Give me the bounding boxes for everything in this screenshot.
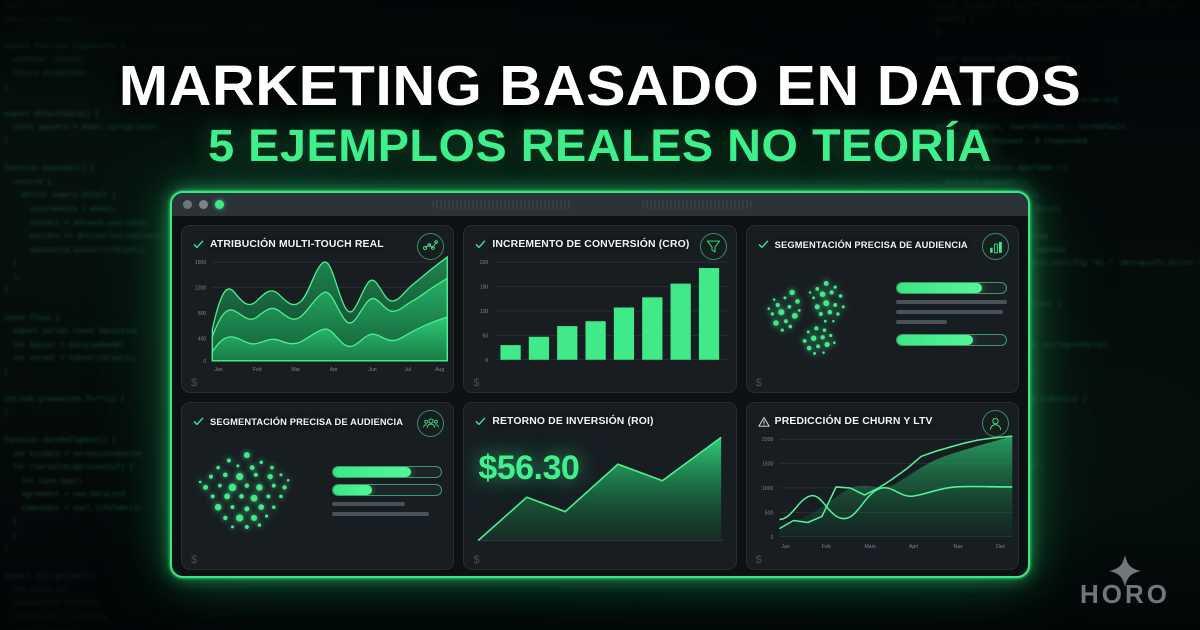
svg-text:Mar: Mar <box>291 367 300 373</box>
poster-canvas: import 'data.d' import 'callmap4'; expor… <box>0 0 1200 630</box>
roi-area-chart <box>464 425 735 555</box>
card-title: ATRIBUCIÓN MULTI-TOUCH REAL <box>210 239 384 250</box>
card-attribution[interactable]: ATRIBUCIÓN MULTI-TOUCH REAL <box>181 225 454 393</box>
card-header: SEGMENTACIÓN PRECISA DE AUDIENCIA <box>193 413 442 430</box>
svg-text:Jun: Jun <box>368 367 376 373</box>
svg-text:1000: 1000 <box>762 486 774 492</box>
segmentation-body <box>193 429 442 553</box>
card-header: ATRIBUCIÓN MULTI-TOUCH REAL <box>193 236 442 253</box>
progress-bar[interactable] <box>332 466 443 478</box>
segment-bars <box>328 466 443 516</box>
svg-text:500: 500 <box>764 510 773 516</box>
page-title: MARKETING BASADO EN DATOS 5 EJEMPLOS REA… <box>0 57 1200 169</box>
cluster-scatter <box>193 429 328 553</box>
card-header: INCREMENTO DE CONVERSIÓN (CRO) <box>475 236 724 253</box>
cro-bar-chart: 200 150 100 50 0 <box>464 252 735 376</box>
churn-ltv-line-chart: 2000 1500 1000 500 0 Jan Feb Mars Apri N… <box>747 429 1018 553</box>
svg-text:1600: 1600 <box>195 260 207 266</box>
check-icon <box>193 416 204 427</box>
window-dot-close[interactable] <box>183 200 192 209</box>
placeholder-line <box>896 310 1002 314</box>
svg-text:Jan: Jan <box>781 544 789 550</box>
svg-text:800: 800 <box>198 311 207 317</box>
svg-text:200: 200 <box>480 260 489 266</box>
card-footer-symbol: $ <box>756 377 762 389</box>
headline-secondary: 5 EJEMPLOS REALES NO TEORÍA <box>0 123 1200 169</box>
svg-text:50: 50 <box>483 333 489 339</box>
placeholder-line <box>332 512 429 516</box>
svg-text:Nas: Nas <box>953 544 963 550</box>
roi-value: $56.30 <box>478 449 579 488</box>
placeholder-line <box>332 502 405 506</box>
svg-text:Feb: Feb <box>822 544 831 550</box>
headline-primary: MARKETING BASADO EN DATOS <box>0 57 1200 115</box>
svg-text:0: 0 <box>486 358 489 364</box>
svg-text:2000: 2000 <box>762 437 774 443</box>
svg-text:150: 150 <box>480 285 489 291</box>
card-segmentation-audience[interactable]: SEGMENTACIÓN PRECISA DE AUDIENCIA <box>181 402 454 570</box>
svg-text:Jan: Jan <box>214 367 222 373</box>
card-footer-symbol: $ <box>473 554 479 566</box>
window-dot-maximize[interactable] <box>215 200 224 209</box>
titlebar-placeholder-b <box>642 200 752 209</box>
card-title: SEGMENTACIÓN PRECISA DE AUDIENCIA <box>775 240 968 250</box>
svg-text:Feb: Feb <box>253 367 262 373</box>
titlebar-placeholder-a <box>432 200 572 209</box>
card-header: PREDICCIÓN DE CHURN Y LTV <box>758 413 1007 430</box>
svg-text:0: 0 <box>203 359 206 365</box>
browser-window: ATRIBUCIÓN MULTI-TOUCH REAL <box>170 191 1030 578</box>
progress-bar[interactable] <box>896 282 1007 294</box>
check-icon <box>475 239 486 250</box>
progress-bar[interactable] <box>896 334 1007 346</box>
card-footer-symbol: $ <box>473 377 479 389</box>
card-cro[interactable]: INCREMENTO DE CONVERSIÓN (CRO) <box>463 225 736 393</box>
warning-icon <box>758 416 769 427</box>
brand-logo: HORO <box>1080 554 1170 610</box>
svg-text:Dez: Dez <box>996 544 1006 550</box>
card-title: SEGMENTACIÓN PRECISA DE AUDIENCIA <box>210 417 403 427</box>
card-title: PREDICCIÓN DE CHURN Y LTV <box>775 416 933 427</box>
svg-text:Aug: Aug <box>435 367 444 373</box>
card-footer-symbol: $ <box>191 377 197 389</box>
card-title: INCREMENTO DE CONVERSIÓN (CRO) <box>492 239 689 250</box>
browser-titlebar <box>172 193 1028 216</box>
card-header: SEGMENTACIÓN PRECISA DE AUDIENCIA <box>758 236 1007 253</box>
check-icon <box>193 239 204 250</box>
svg-text:1200: 1200 <box>195 286 207 292</box>
segment-bars <box>892 282 1007 346</box>
placeholder-line <box>896 300 1007 304</box>
card-segmentation-clusters[interactable]: SEGMENTACIÓN PRECISA DE AUDIENCIA <box>746 225 1019 393</box>
cluster-scatter <box>758 252 893 376</box>
card-footer-symbol: $ <box>191 554 197 566</box>
placeholder-line <box>896 320 947 324</box>
card-roi[interactable]: RETORNO DE INVERSIÓN (ROI) <box>463 402 736 570</box>
window-dot-minimize[interactable] <box>199 200 208 209</box>
svg-text:100: 100 <box>480 309 489 315</box>
svg-text:Jul: Jul <box>405 367 412 373</box>
svg-text:Apr: Apr <box>330 367 338 373</box>
svg-text:400: 400 <box>198 336 207 342</box>
svg-text:Apri: Apri <box>909 544 918 550</box>
card-churn-ltv[interactable]: PREDICCIÓN DE CHURN Y LTV <box>746 402 1019 570</box>
brand-name: HORO <box>1080 579 1170 610</box>
svg-text:1500: 1500 <box>762 462 774 468</box>
card-footer-symbol: $ <box>756 554 762 566</box>
progress-bar[interactable] <box>332 484 443 496</box>
check-icon <box>758 239 769 250</box>
dashboard-grid: ATRIBUCIÓN MULTI-TOUCH REAL <box>172 216 1028 578</box>
svg-text:Mars: Mars <box>864 544 876 550</box>
svg-text:0: 0 <box>770 535 773 541</box>
attribution-area-chart: 1600 1200 800 400 0 Jan Feb Mar Apr Jun … <box>182 252 453 376</box>
segmentation-body <box>758 252 1007 376</box>
